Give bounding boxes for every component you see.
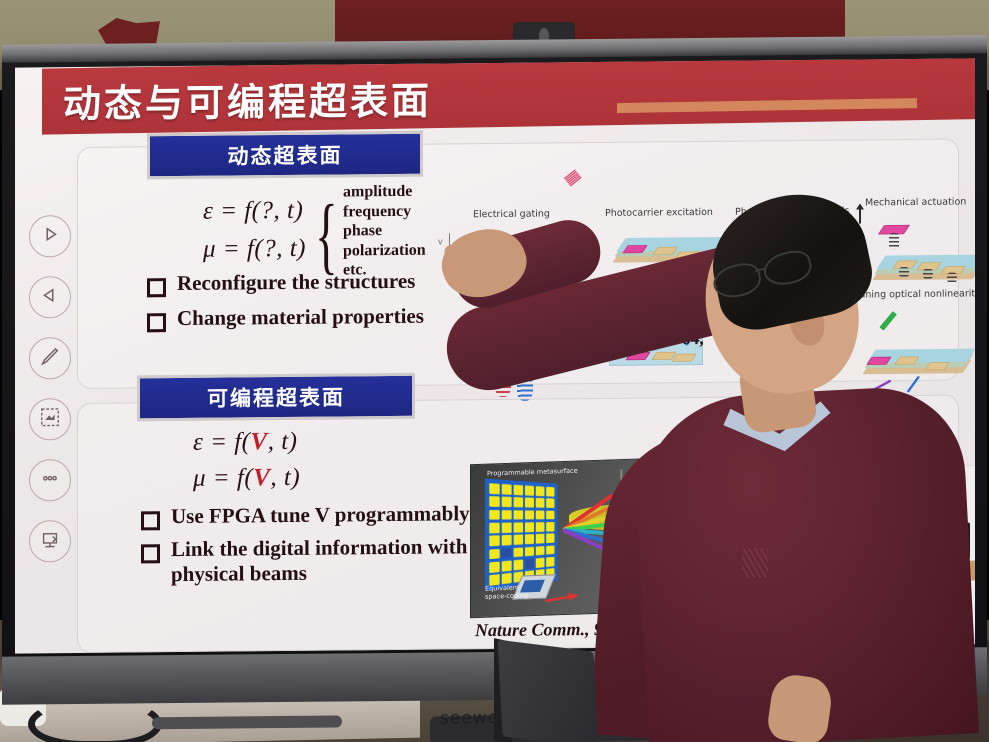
toolbar-screen-capture-button[interactable] <box>29 398 71 440</box>
brace-list-item: phase <box>343 221 426 241</box>
equation-mu-programmable: μ = f(V, t) <box>193 464 300 493</box>
section-header-programmable: 可编程超表面 <box>137 373 415 422</box>
laptop[interactable] <box>498 640 599 742</box>
toolbar-play-forward-button[interactable] <box>29 215 71 257</box>
page-title: 动态与可编程超表面 <box>63 70 432 129</box>
display-brand-label: seewo <box>440 708 499 729</box>
pen-icon <box>39 345 61 372</box>
triangle-left-icon <box>39 284 61 311</box>
bullet-label: Use FPGA tune V programmably <box>171 501 470 529</box>
ellipsis-icon <box>39 467 61 494</box>
bullet-reconfigure: Reconfigure the structures <box>147 269 415 298</box>
bullet-fpga: Use FPGA tune V programmably <box>141 501 470 530</box>
brace-list-item: polarization <box>343 240 426 260</box>
equation-epsilon-dynamic: ε = f(?, t) <box>203 197 303 226</box>
bullet-label: Reconfigure the structures <box>177 269 415 296</box>
sensor-bar <box>152 715 342 729</box>
mechanism-caption: Tuning optical nonlinearity <box>855 288 975 300</box>
brace-list: amplitude frequency phase polarization e… <box>343 182 426 280</box>
variable-v: V <box>253 464 270 491</box>
cable <box>28 700 162 742</box>
projector-icon <box>39 528 61 555</box>
toolbar-exit-presentation-button[interactable] <box>29 520 71 562</box>
variable-v: V <box>251 428 268 455</box>
bullet-change-material: Change material properties <box>147 304 424 333</box>
red-arrow-icon <box>545 591 580 605</box>
brace-list-item: amplitude <box>343 182 426 202</box>
whiteboard-toolbar[interactable] <box>23 215 77 563</box>
square-bullet-icon <box>141 544 160 563</box>
equation-mu-dynamic: μ = f(?, t) <box>203 235 306 264</box>
toolbar-pen-button[interactable] <box>29 337 71 379</box>
figure-label-equivalent-space-coding: Equivalent space-coding <box>485 583 537 601</box>
section-header-dynamic: 动态超表面 <box>147 131 423 180</box>
classroom-scene: seewo 动态与可编程超表面 动态超表面 ε = f(?, t) μ = f(… <box>0 0 989 742</box>
capture-icon <box>39 406 61 433</box>
equation-epsilon-programmable: ε = f(V, t) <box>193 428 297 457</box>
banner-accent-strip <box>617 98 917 113</box>
square-bullet-icon <box>147 313 166 332</box>
figure-label-programmable-metasurface: Programmable metasurface <box>487 467 578 478</box>
mechanism-caption: Electrical gating <box>473 208 550 220</box>
brace-list-item: frequency <box>343 201 426 221</box>
bullet-label: Change material properties <box>177 304 424 331</box>
square-bullet-icon <box>147 278 166 297</box>
mechanism-caption: Photocarrier excitation <box>605 207 713 219</box>
triangle-right-icon <box>39 223 61 250</box>
toolbar-back-button[interactable] <box>29 276 71 318</box>
sweater-texture <box>742 548 768 578</box>
mechanism-caption: Mechanical actuation <box>865 196 966 208</box>
toolbar-more-button[interactable] <box>29 459 71 501</box>
square-bullet-icon <box>141 511 160 530</box>
